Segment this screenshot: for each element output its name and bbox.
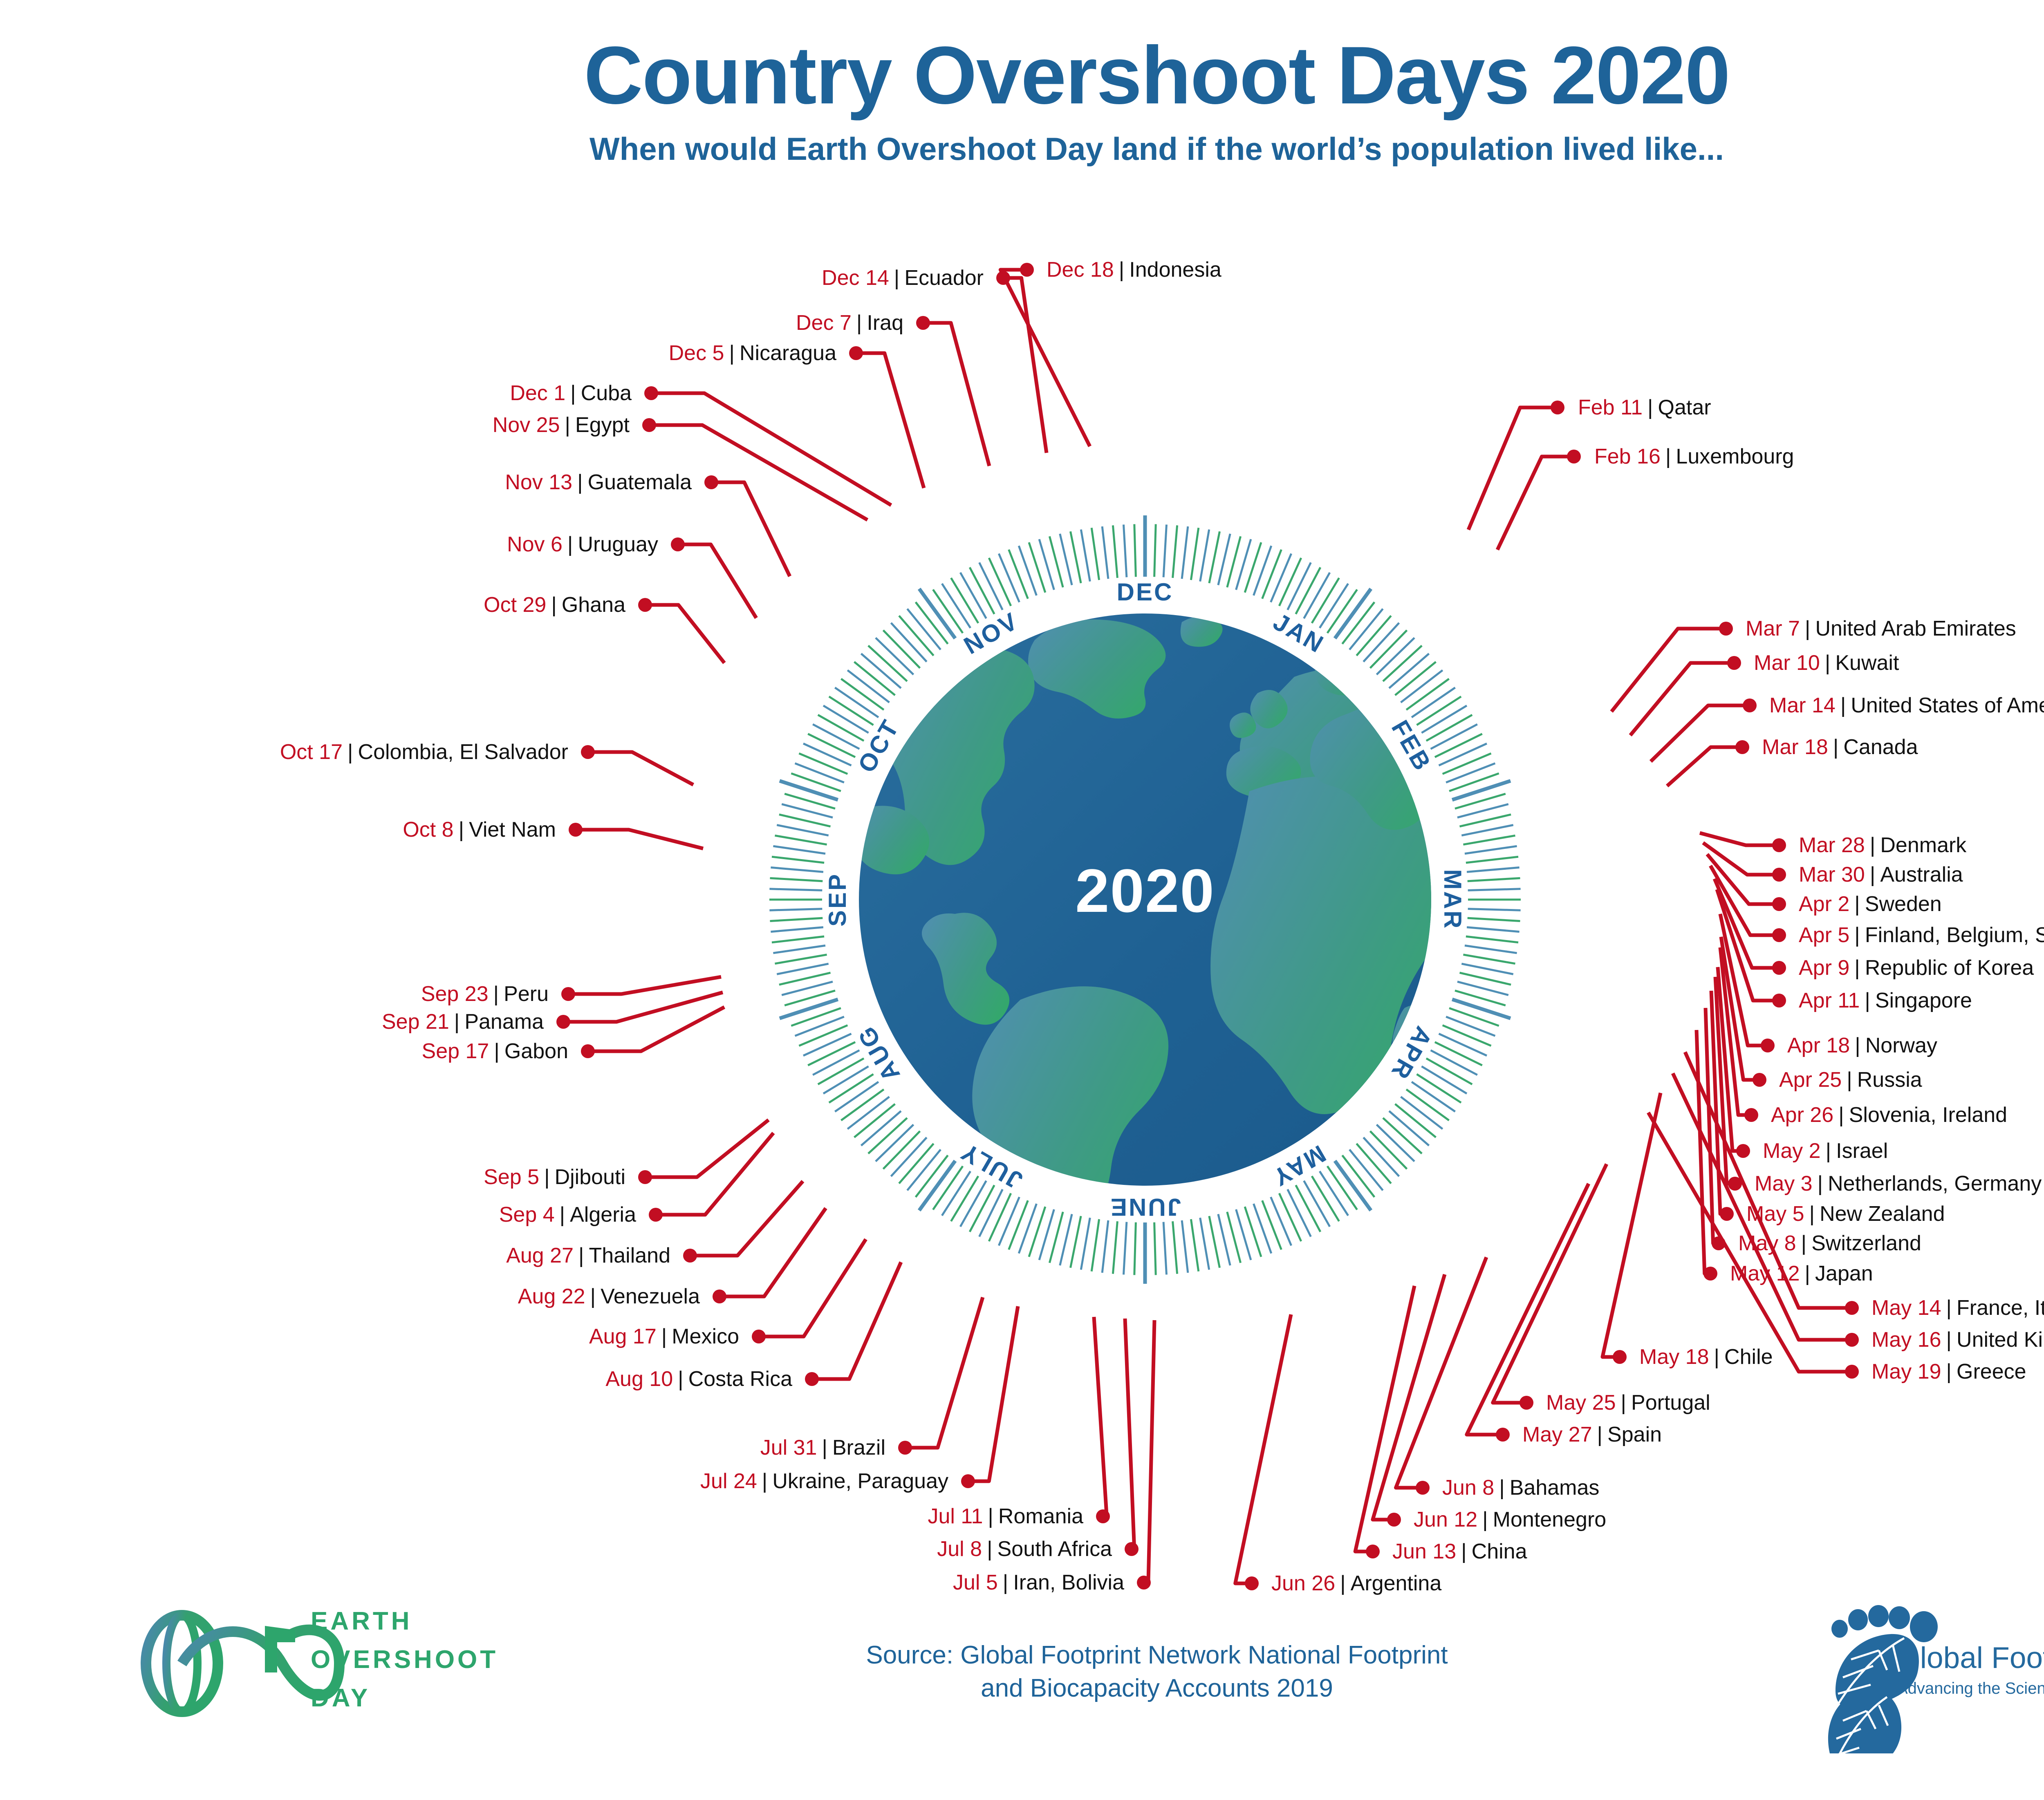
dial-svg: JANFEBMARAPRMAYJUNEJULYAUGSEPOCTNOVDEC (710, 464, 1580, 1335)
country-names: Brazil (832, 1436, 885, 1460)
label-anchor-dot (1020, 263, 1034, 277)
overshoot-date: Jul 11 (928, 1504, 983, 1528)
eod-line-2: OVERSHOOT (311, 1641, 498, 1679)
leader-line (1094, 1317, 1107, 1516)
source-line-1: Source: Global Footprint Network Nationa… (728, 1639, 1586, 1672)
source-credit: Source: Global Footprint Network Nationa… (728, 1639, 1586, 1705)
country-names: Republic of Korea (1865, 956, 2034, 980)
country-names: United Kingdom (1957, 1328, 2044, 1352)
overshoot-date: Sep 17 (422, 1039, 489, 1063)
country-label-ukraine-paraguay: Jul 24|Ukraine, Paraguay (700, 1471, 948, 1492)
country-label-netherlands-germany: May 3|Netherlands, Germany (1755, 1173, 2042, 1194)
country-label-venezuela: Aug 22|Venezuela (518, 1286, 700, 1307)
country-names: Cuba (581, 381, 632, 405)
overshoot-date: Apr 25 (1779, 1068, 1842, 1092)
label-separator: | (489, 982, 504, 1006)
overshoot-date: Jul 8 (937, 1537, 982, 1561)
label-separator: | (1616, 1391, 1632, 1415)
label-anchor-dot (916, 316, 930, 330)
overshoot-date: Apr 9 (1799, 956, 1849, 980)
label-separator: | (449, 1010, 465, 1034)
country-names: Iraq (867, 311, 903, 335)
country-label-ecuador: Dec 14|Ecuador (822, 267, 984, 289)
country-names: Spain (1607, 1423, 1662, 1446)
label-anchor-dot (1567, 450, 1581, 463)
country-names: Kuwait (1835, 651, 1899, 675)
overshoot-date: Mar 30 (1799, 863, 1865, 887)
country-label-united-states-of-america: Mar 14|United States of America (1769, 695, 2044, 716)
country-names: Colombia, El Salvador (358, 740, 568, 764)
label-anchor-dot (1845, 1301, 1859, 1315)
overshoot-date: Oct 8 (403, 818, 453, 842)
overshoot-date: Jun 8 (1442, 1476, 1494, 1500)
leader-line (588, 752, 693, 785)
overshoot-date: Apr 2 (1799, 892, 1849, 916)
overshoot-date: May 16 (1871, 1328, 1941, 1352)
country-label-slovenia-ireland: Apr 26|Slovenia, Ireland (1771, 1104, 2007, 1126)
country-names: Romania (998, 1504, 1083, 1528)
label-separator: | (1456, 1540, 1472, 1563)
country-names: Portugal (1631, 1391, 1710, 1415)
label-anchor-dot (569, 823, 583, 837)
country-names: Ecuador (904, 266, 984, 290)
country-names: Chile (1724, 1345, 1773, 1369)
label-anchor-dot (898, 1441, 912, 1455)
overshoot-date: Apr 26 (1771, 1103, 1833, 1127)
overshoot-date: Sep 23 (421, 982, 489, 1006)
leader-line (1235, 1314, 1291, 1583)
month-label-sep: SEP (824, 873, 851, 927)
country-names: Japan (1815, 1262, 1873, 1285)
label-separator: | (1849, 892, 1865, 916)
footer: EARTH OVERSHOOT DAY Source: Global Footp… (0, 1578, 2044, 1798)
label-separator: | (555, 1203, 570, 1227)
overshoot-date: Nov 6 (507, 533, 563, 556)
label-separator: | (489, 1039, 504, 1063)
country-label-israel: May 2|Israel (1763, 1140, 1888, 1162)
gfn-name: Global Footprint Network (1897, 1643, 2044, 1673)
country-names: Denmark (1880, 833, 1966, 857)
gfn-tagline: Advancing the Science of Sustainability (1897, 1680, 2044, 1697)
label-separator: | (343, 740, 358, 764)
overshoot-date: Dec 5 (669, 341, 724, 365)
source-line-2: and Biocapacity Accounts 2019 (728, 1672, 1586, 1705)
label-separator: | (1849, 923, 1865, 947)
overshoot-date: May 25 (1546, 1391, 1616, 1415)
leader-line (576, 830, 703, 849)
leader-line (1697, 1030, 1710, 1274)
country-names: Bahamas (1510, 1476, 1600, 1500)
leader-line (1651, 705, 1750, 761)
country-label-nicaragua: Dec 5|Nicaragua (669, 343, 836, 364)
country-names: France, Italy (1957, 1296, 2044, 1320)
label-separator: | (563, 533, 578, 556)
label-separator: | (889, 266, 905, 290)
country-label-new-zealand: May 5|New Zealand (1746, 1203, 1945, 1225)
country-label-sweden: Apr 2|Sweden (1799, 893, 1942, 915)
label-separator: | (1941, 1328, 1957, 1352)
overshoot-date: May 27 (1522, 1423, 1592, 1446)
label-separator: | (1114, 258, 1130, 282)
page-subtitle: When would Earth Overshoot Day land if t… (0, 133, 2044, 165)
label-separator: | (1494, 1476, 1510, 1500)
country-names: China (1472, 1540, 1527, 1563)
country-label-peru: Sep 23|Peru (421, 983, 549, 1005)
leader-line (1720, 947, 1751, 1115)
label-anchor-dot (849, 346, 863, 360)
country-names: Indonesia (1129, 258, 1221, 282)
leader-line (1125, 1319, 1134, 1549)
label-separator: | (673, 1367, 688, 1391)
leader-line (1667, 747, 1742, 786)
label-separator: | (565, 381, 581, 405)
label-separator: | (982, 1537, 997, 1561)
country-label-republic-of-korea: Apr 9|Republic of Korea (1799, 957, 2034, 978)
leader-line (1700, 833, 1779, 845)
country-names: Ukraine, Paraguay (772, 1469, 948, 1493)
label-anchor-dot (1125, 1542, 1139, 1556)
leader-line (1611, 629, 1726, 712)
leader-line (1144, 1320, 1154, 1583)
label-anchor-dot (642, 418, 656, 432)
country-names: Nicaragua (740, 341, 836, 365)
overshoot-date: Aug 22 (518, 1285, 585, 1308)
label-anchor-dot (1096, 1509, 1110, 1523)
overshoot-date: May 19 (1871, 1360, 1941, 1384)
country-names: Viet Nam (469, 818, 556, 842)
label-anchor-dot (1772, 928, 1786, 942)
country-label-brazil: Jul 31|Brazil (760, 1437, 885, 1458)
country-names: Singapore (1875, 989, 1972, 1012)
overshoot-date: Apr 5 (1799, 923, 1849, 947)
country-names: Ghana (562, 593, 625, 617)
country-names: Qatar (1658, 396, 1711, 419)
label-separator: | (1860, 989, 1875, 1012)
calendar-dial: JANFEBMARAPRMAYJUNEJULYAUGSEPOCTNOVDEC 2… (710, 464, 1580, 1335)
overshoot-date: Mar 7 (1746, 617, 1800, 640)
leader-line (1721, 937, 1759, 1080)
country-label-singapore: Apr 11|Singapore (1799, 990, 1972, 1011)
country-label-uruguay: Nov 6|Uruguay (507, 534, 658, 555)
month-label-mar: MAR (1439, 869, 1466, 930)
label-anchor-dot (996, 271, 1010, 285)
overshoot-date: Dec 18 (1047, 258, 1114, 282)
country-names: Thailand (589, 1244, 670, 1267)
country-label-chile: May 18|Chile (1639, 1346, 1773, 1368)
label-anchor-dot (805, 1372, 819, 1386)
country-names: Russia (1857, 1068, 1922, 1092)
country-label-france-italy: May 14|France, Italy (1871, 1297, 2044, 1319)
leader-line (1720, 914, 1768, 1046)
overshoot-date: Feb 11 (1578, 396, 1643, 419)
country-names: Sweden (1865, 892, 1942, 916)
label-anchor-dot (1703, 1267, 1717, 1281)
overshoot-date: Jun 12 (1414, 1508, 1477, 1531)
leader-line (563, 992, 723, 1022)
country-names: Canada (1843, 735, 1918, 759)
eod-wordmark: EARTH OVERSHOOT DAY (311, 1602, 498, 1718)
overshoot-date: Sep 5 (484, 1165, 539, 1189)
leader-line (1715, 977, 1735, 1184)
label-separator: | (724, 341, 740, 365)
leader-line (1602, 1093, 1661, 1357)
country-names: South Africa (997, 1537, 1112, 1561)
label-separator: | (1661, 445, 1676, 468)
label-anchor-dot (1520, 1396, 1533, 1410)
label-anchor-dot (1772, 838, 1786, 852)
leader-line (1710, 866, 1779, 935)
label-anchor-dot (581, 745, 595, 759)
country-label-egypt: Nov 25|Egypt (493, 414, 630, 436)
label-anchor-dot (1772, 868, 1786, 882)
label-separator: | (757, 1469, 773, 1493)
leader-line (1630, 663, 1734, 735)
label-anchor-dot (1720, 1207, 1734, 1221)
leader-line (1717, 889, 1779, 1001)
label-separator: | (1865, 863, 1880, 887)
overshoot-date: Sep 4 (499, 1203, 555, 1227)
country-names: Israel (1836, 1139, 1888, 1163)
country-label-japan: May 12|Japan (1730, 1263, 1873, 1284)
label-anchor-dot (556, 1015, 570, 1029)
overshoot-date: Oct 17 (280, 740, 343, 764)
country-label-united-kingdom: May 16|United Kingdom (1871, 1329, 2044, 1350)
country-names: Finland, Belgium, Saudi Arabia (1865, 923, 2044, 947)
overshoot-date: Jun 13 (1392, 1540, 1456, 1563)
label-separator: | (1850, 1034, 1865, 1057)
country-names: Netherlands, Germany (1828, 1172, 2042, 1196)
country-label-iraq: Dec 7|Iraq (796, 312, 903, 334)
country-label-panama: Sep 21|Panama (382, 1011, 544, 1032)
label-anchor-dot (1772, 961, 1786, 975)
leader-line (1000, 270, 1090, 446)
country-names: Switzerland (1811, 1231, 1921, 1255)
country-label-algeria: Sep 4|Algeria (499, 1204, 636, 1225)
label-anchor-dot (638, 1170, 652, 1184)
country-label-thailand: Aug 27|Thailand (506, 1245, 670, 1266)
label-separator: | (1800, 1262, 1815, 1285)
overshoot-date: Mar 10 (1754, 651, 1820, 675)
overshoot-date: Nov 25 (493, 413, 560, 437)
country-label-china: Jun 13|China (1392, 1541, 1527, 1562)
country-names: Australia (1880, 863, 1963, 887)
leader-line (923, 323, 989, 466)
label-anchor-dot (1728, 1177, 1742, 1191)
country-names: Peru (504, 982, 549, 1006)
country-names: Greece (1957, 1360, 2026, 1384)
label-anchor-dot (1719, 622, 1733, 636)
leader-line (1703, 843, 1779, 875)
overshoot-date: Jul 31 (760, 1436, 817, 1460)
label-anchor-dot (1387, 1513, 1401, 1527)
label-separator: | (1709, 1345, 1725, 1369)
label-separator: | (1836, 694, 1851, 717)
country-label-colombia-el-salvador: Oct 17|Colombia, El Salvador (280, 741, 568, 763)
label-separator: | (1804, 1202, 1820, 1226)
leader-line (568, 977, 721, 994)
label-anchor-dot (1496, 1428, 1510, 1442)
page-title: Country Overshoot Days 2020 (0, 35, 2044, 116)
country-names: Djibouti (555, 1165, 625, 1189)
label-separator: | (1813, 1172, 1828, 1196)
country-label-canada: Mar 18|Canada (1762, 737, 1918, 758)
label-anchor-dot (1727, 656, 1741, 670)
leader-line (1711, 991, 1727, 1214)
label-separator: | (1842, 1068, 1857, 1092)
country-label-costa-rica: Aug 10|Costa Rica (605, 1368, 792, 1390)
label-anchor-dot (1772, 994, 1786, 1007)
label-anchor-dot (638, 598, 652, 612)
overshoot-date: Aug 10 (605, 1367, 673, 1391)
country-label-djibouti: Sep 5|Djibouti (484, 1166, 625, 1188)
eod-line-1: EARTH (311, 1602, 498, 1641)
label-separator: | (983, 1504, 998, 1528)
country-names: Guatemala (588, 470, 692, 494)
country-label-viet-nam: Oct 8|Viet Nam (403, 819, 556, 840)
overshoot-date: Dec 7 (796, 311, 852, 335)
label-anchor-dot (1761, 1039, 1775, 1052)
label-separator: | (1821, 1139, 1836, 1163)
overshoot-date: Apr 18 (1787, 1034, 1850, 1057)
country-names: Gabon (504, 1039, 568, 1063)
country-label-luxembourg: Feb 16|Luxembourg (1594, 446, 1794, 467)
overshoot-date: Mar 28 (1799, 833, 1865, 857)
country-label-qatar: Feb 11|Qatar (1578, 397, 1711, 418)
label-anchor-dot (649, 1208, 663, 1222)
country-label-russia: Apr 25|Russia (1779, 1069, 1922, 1090)
country-names: United States of America (1851, 694, 2044, 717)
label-separator: | (1941, 1360, 1957, 1384)
country-label-switzerland: May 8|Switzerland (1738, 1233, 1921, 1254)
overshoot-date: Apr 11 (1799, 989, 1860, 1012)
overshoot-date: Aug 17 (589, 1325, 657, 1348)
country-label-denmark: Mar 28|Denmark (1799, 835, 1966, 856)
overshoot-date: Nov 13 (505, 470, 572, 494)
country-names: Algeria (570, 1203, 636, 1227)
label-separator: | (1865, 833, 1880, 857)
label-separator: | (1849, 956, 1865, 980)
country-label-greece: May 19|Greece (1871, 1361, 2026, 1382)
label-anchor-dot (1772, 897, 1786, 911)
label-anchor-dot (1744, 1108, 1758, 1122)
overshoot-date: May 3 (1755, 1172, 1813, 1196)
label-anchor-dot (581, 1044, 595, 1058)
overshoot-date: Mar 14 (1769, 694, 1836, 717)
label-separator: | (572, 470, 588, 494)
country-names: Slovenia, Ireland (1849, 1103, 2007, 1127)
label-separator: | (1796, 1231, 1812, 1255)
label-anchor-dot (961, 1474, 975, 1488)
gfn-wordmark: Global Footprint Network Advancing the S… (1897, 1643, 2044, 1697)
country-label-norway: Apr 18|Norway (1787, 1035, 1937, 1056)
label-separator: | (560, 413, 576, 437)
label-separator: | (1643, 396, 1658, 419)
country-names: New Zealand (1820, 1202, 1945, 1226)
label-anchor-dot (1845, 1365, 1859, 1379)
month-label-dec: DEC (1117, 578, 1174, 606)
label-separator: | (1592, 1423, 1608, 1446)
label-separator: | (1477, 1508, 1493, 1531)
label-separator: | (1820, 651, 1836, 675)
country-names: United Arab Emirates (1815, 617, 2016, 640)
label-anchor-dot (1736, 1144, 1750, 1158)
label-anchor-dot (1416, 1481, 1430, 1495)
leader-line (1706, 1008, 1719, 1243)
country-label-gabon: Sep 17|Gabon (422, 1041, 568, 1062)
country-names: Costa Rica (688, 1367, 792, 1391)
label-anchor-dot (644, 386, 658, 400)
label-anchor-dot (1613, 1350, 1627, 1364)
country-label-bahamas: Jun 8|Bahamas (1442, 1477, 1599, 1498)
label-separator: | (1833, 1103, 1849, 1127)
leader-line (588, 1007, 724, 1051)
country-label-mexico: Aug 17|Mexico (589, 1326, 739, 1347)
label-anchor-dot (1735, 740, 1749, 754)
country-names: Uruguay (578, 533, 658, 556)
eod-line-3: DAY (311, 1679, 498, 1717)
leader-line (1718, 967, 1743, 1151)
country-names: Montenegro (1493, 1508, 1607, 1531)
overshoot-date: Mar 18 (1762, 735, 1828, 759)
country-label-kuwait: Mar 10|Kuwait (1754, 652, 1899, 674)
overshoot-date: May 5 (1746, 1202, 1804, 1226)
header: Country Overshoot Days 2020 When would E… (0, 0, 2044, 165)
country-label-finland-belgium-saudi-arabia: Apr 5|Finland, Belgium, Saudi Arabia (1799, 925, 2044, 946)
country-names: Panama (464, 1010, 544, 1034)
overshoot-date: Dec 14 (822, 266, 889, 290)
country-names: Mexico (672, 1325, 739, 1348)
country-label-montenegro: Jun 12|Montenegro (1414, 1509, 1606, 1530)
label-anchor-dot (671, 537, 685, 551)
overshoot-date: Oct 29 (484, 593, 546, 617)
overshoot-date: May 2 (1763, 1139, 1821, 1163)
label-anchor-dot (561, 987, 575, 1001)
label-separator: | (817, 1436, 832, 1460)
overshoot-date: Sep 21 (382, 1010, 449, 1034)
country-label-guatemala: Nov 13|Guatemala (505, 472, 692, 493)
overshoot-date: May 14 (1871, 1296, 1941, 1320)
country-label-united-arab-emirates: Mar 7|United Arab Emirates (1746, 618, 2016, 639)
label-separator: | (539, 1165, 555, 1189)
label-anchor-dot (1712, 1236, 1726, 1250)
label-separator: | (454, 818, 469, 842)
country-label-spain: May 27|Spain (1522, 1424, 1662, 1445)
overshoot-date: May 12 (1730, 1262, 1800, 1285)
country-label-romania: Jul 11|Romania (928, 1506, 1083, 1527)
label-separator: | (546, 593, 562, 617)
label-anchor-dot (1551, 401, 1564, 414)
country-names: Venezuela (601, 1285, 700, 1308)
country-names: Luxembourg (1676, 445, 1794, 468)
overshoot-date: Aug 27 (506, 1244, 574, 1267)
leader-line (1003, 278, 1047, 453)
overshoot-date: May 8 (1738, 1231, 1796, 1255)
country-label-south-africa: Jul 8|South Africa (937, 1538, 1112, 1560)
country-label-australia: Mar 30|Australia (1799, 864, 1963, 885)
country-label-ghana: Oct 29|Ghana (484, 594, 625, 616)
leader-line (1715, 879, 1779, 968)
label-separator: | (1828, 735, 1844, 759)
label-anchor-dot (1753, 1073, 1766, 1087)
overshoot-date: Dec 1 (510, 381, 565, 405)
label-anchor-dot (1743, 699, 1757, 712)
country-label-indonesia: Dec 18|Indonesia (1047, 259, 1221, 280)
country-label-portugal: May 25|Portugal (1546, 1392, 1710, 1413)
month-label-june: JUNE (1109, 1193, 1181, 1221)
overshoot-date: Jul 24 (700, 1469, 757, 1493)
overshoot-date: Feb 16 (1594, 445, 1661, 468)
label-anchor-dot (683, 1249, 697, 1263)
